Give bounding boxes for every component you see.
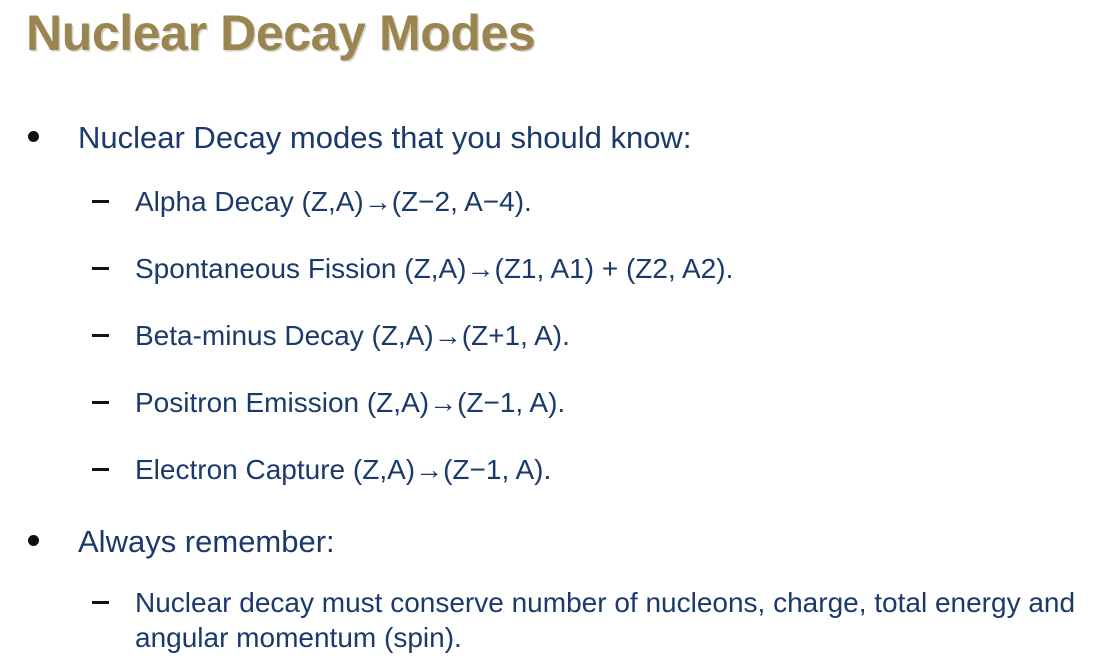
list-item-level2: Positron Emission (Z,A)→(Z−1, A). xyxy=(0,385,1118,420)
bullet-dot-icon xyxy=(28,535,39,546)
list-item-level1: Always remember: xyxy=(0,522,1118,561)
list-item-level2-label: Spontaneous Fission (Z,A)→(Z1, A1) + (Z2… xyxy=(135,251,1118,286)
list-item-level2-label: Positron Emission (Z,A)→(Z−1, A). xyxy=(135,385,1118,420)
bullet-dash-icon xyxy=(92,401,109,404)
bullet-dot-icon xyxy=(28,131,39,142)
list-item-level2: Spontaneous Fission (Z,A)→(Z1, A1) + (Z2… xyxy=(0,251,1118,286)
list-item-level1-label: Always remember: xyxy=(78,524,335,559)
spacer xyxy=(0,420,1118,452)
bullet-dash-icon xyxy=(92,334,109,337)
list-item-level1-label: Nuclear Decay modes that you should know… xyxy=(78,120,691,155)
list-item-level2-label: Alpha Decay (Z,A)→(Z−2, A−4). xyxy=(135,184,1118,219)
slide-canvas: Nuclear Decay Modes Nuclear Decay modes … xyxy=(0,0,1118,663)
bullet-dash-icon xyxy=(92,267,109,270)
spacer xyxy=(0,353,1118,385)
list-item-level2: Electron Capture (Z,A)→(Z−1, A). xyxy=(0,452,1118,487)
bullet-dash-icon xyxy=(92,468,109,471)
slide-body: Nuclear Decay modes that you should know… xyxy=(0,118,1118,655)
list-item-level2-label: Nuclear decay must conserve number of nu… xyxy=(135,585,1118,655)
spacer xyxy=(0,157,1118,184)
bullet-dash-icon xyxy=(92,200,109,203)
spacer xyxy=(0,286,1118,318)
spacer xyxy=(0,487,1118,522)
list-item-level2-label: Electron Capture (Z,A)→(Z−1, A). xyxy=(135,452,1118,487)
list-item-level2: Nuclear decay must conserve number of nu… xyxy=(0,585,1118,655)
list-item-level2-label: Beta-minus Decay (Z,A)→(Z+1, A). xyxy=(135,318,1118,353)
list-item-level1: Nuclear Decay modes that you should know… xyxy=(0,118,1118,157)
spacer xyxy=(0,219,1118,251)
list-item-level2: Beta-minus Decay (Z,A)→(Z+1, A). xyxy=(0,318,1118,353)
list-item-level2: Alpha Decay (Z,A)→(Z−2, A−4). xyxy=(0,184,1118,219)
spacer xyxy=(0,561,1118,585)
bullet-dash-icon xyxy=(92,601,109,604)
page-title: Nuclear Decay Modes xyxy=(26,2,535,64)
